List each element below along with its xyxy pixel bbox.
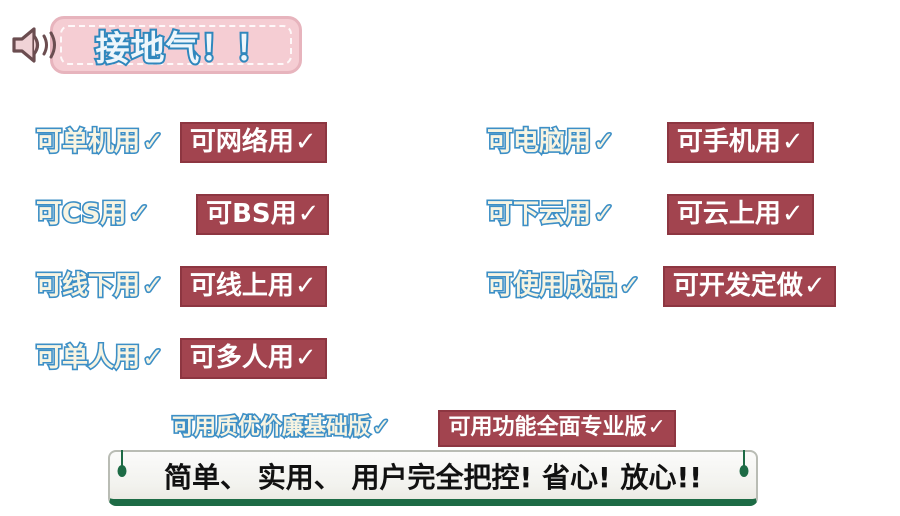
feature-label-mobile: 可手机用✓	[667, 122, 814, 163]
feature-row-1-right: 可电脑用✓ 可手机用✓	[485, 118, 814, 166]
label-text: 可使用成品	[487, 273, 617, 299]
label-text: 可用功能全面专业版	[448, 417, 646, 439]
check-icon: ✓	[295, 273, 317, 299]
check-icon: ✓	[298, 201, 320, 227]
check-icon: ✓	[142, 129, 164, 155]
feature-label-bs: 可BS用✓	[196, 194, 329, 235]
feature-label-professional-edition: 可用功能全面专业版✓	[438, 410, 675, 447]
check-icon: ✓	[128, 201, 150, 227]
label-text: 可手机用	[677, 129, 781, 155]
feature-row-3-left: 可线下用✓ 可线上用✓	[34, 262, 327, 310]
feature-label-offline: 可线下用✓	[34, 270, 166, 302]
feature-label-custom-dev: 可开发定做✓	[663, 266, 836, 307]
pin-right-icon	[738, 448, 750, 482]
pin-left-icon	[116, 448, 128, 482]
speaker-icon	[8, 22, 70, 68]
check-icon: ✓	[782, 201, 804, 227]
feature-label-network: 可网络用✓	[180, 122, 327, 163]
feature-label-multi-user: 可多人用✓	[180, 338, 327, 379]
label-text: 可云上用	[677, 201, 781, 227]
page-title: 接地气！！	[82, 21, 271, 70]
feature-label-ready-made: 可使用成品✓	[485, 270, 643, 302]
feature-row-3-right: 可使用成品✓ 可开发定做✓	[485, 262, 836, 310]
label-text: 可下云用	[487, 201, 591, 227]
label-text: 可开发定做	[673, 273, 803, 299]
feature-row-2-left: 可CS用✓ 可BS用✓	[34, 190, 329, 238]
check-icon: ✓	[372, 417, 390, 439]
label-text: 可CS用	[36, 201, 126, 227]
edition-row: 可用质优价廉基础版✓ 可用功能全面专业版✓	[170, 404, 676, 452]
feature-row-4-left: 可单人用✓ 可多人用✓	[34, 334, 327, 382]
label-text: 可单人用	[36, 345, 140, 371]
header-banner: 接地气！！	[0, 8, 330, 80]
label-text: 可线上用	[190, 273, 294, 299]
feature-label-cloud-down: 可下云用✓	[485, 198, 617, 230]
check-icon: ✓	[142, 273, 164, 299]
feature-label-computer: 可电脑用✓	[485, 126, 617, 158]
feature-label-basic-edition: 可用质优价廉基础版✓	[170, 414, 392, 442]
label-text: 可线下用	[36, 273, 140, 299]
check-icon: ✓	[593, 129, 615, 155]
label-text: 可单机用	[36, 129, 140, 155]
check-icon: ✓	[295, 345, 317, 371]
feature-label-single-machine: 可单机用✓	[34, 126, 166, 158]
check-icon: ✓	[647, 417, 665, 439]
feature-label-cs: 可CS用✓	[34, 198, 152, 230]
footer-banner: 简单、 实用、 用户完全把控! 省心! 放心!!	[108, 450, 758, 506]
label-text: 可多人用	[190, 345, 294, 371]
feature-label-single-user: 可单人用✓	[34, 342, 166, 374]
feature-row-2-right: 可下云用✓ 可云上用✓	[485, 190, 814, 238]
footer-text: 简单、 实用、 用户完全把控! 省心! 放心!!	[164, 456, 702, 496]
label-text: 可电脑用	[487, 129, 591, 155]
check-icon: ✓	[619, 273, 641, 299]
check-icon: ✓	[295, 129, 317, 155]
label-text: 可用质优价廉基础版	[172, 417, 370, 439]
check-icon: ✓	[593, 201, 615, 227]
title-box: 接地气！！	[50, 16, 302, 74]
feature-label-cloud-up: 可云上用✓	[667, 194, 814, 235]
check-icon: ✓	[782, 129, 804, 155]
label-text: 可网络用	[190, 129, 294, 155]
label-text: 可BS用	[206, 201, 297, 227]
feature-row-1-left: 可单机用✓ 可网络用✓	[34, 118, 327, 166]
feature-label-online: 可线上用✓	[180, 266, 327, 307]
check-icon: ✓	[804, 273, 826, 299]
check-icon: ✓	[142, 345, 164, 371]
